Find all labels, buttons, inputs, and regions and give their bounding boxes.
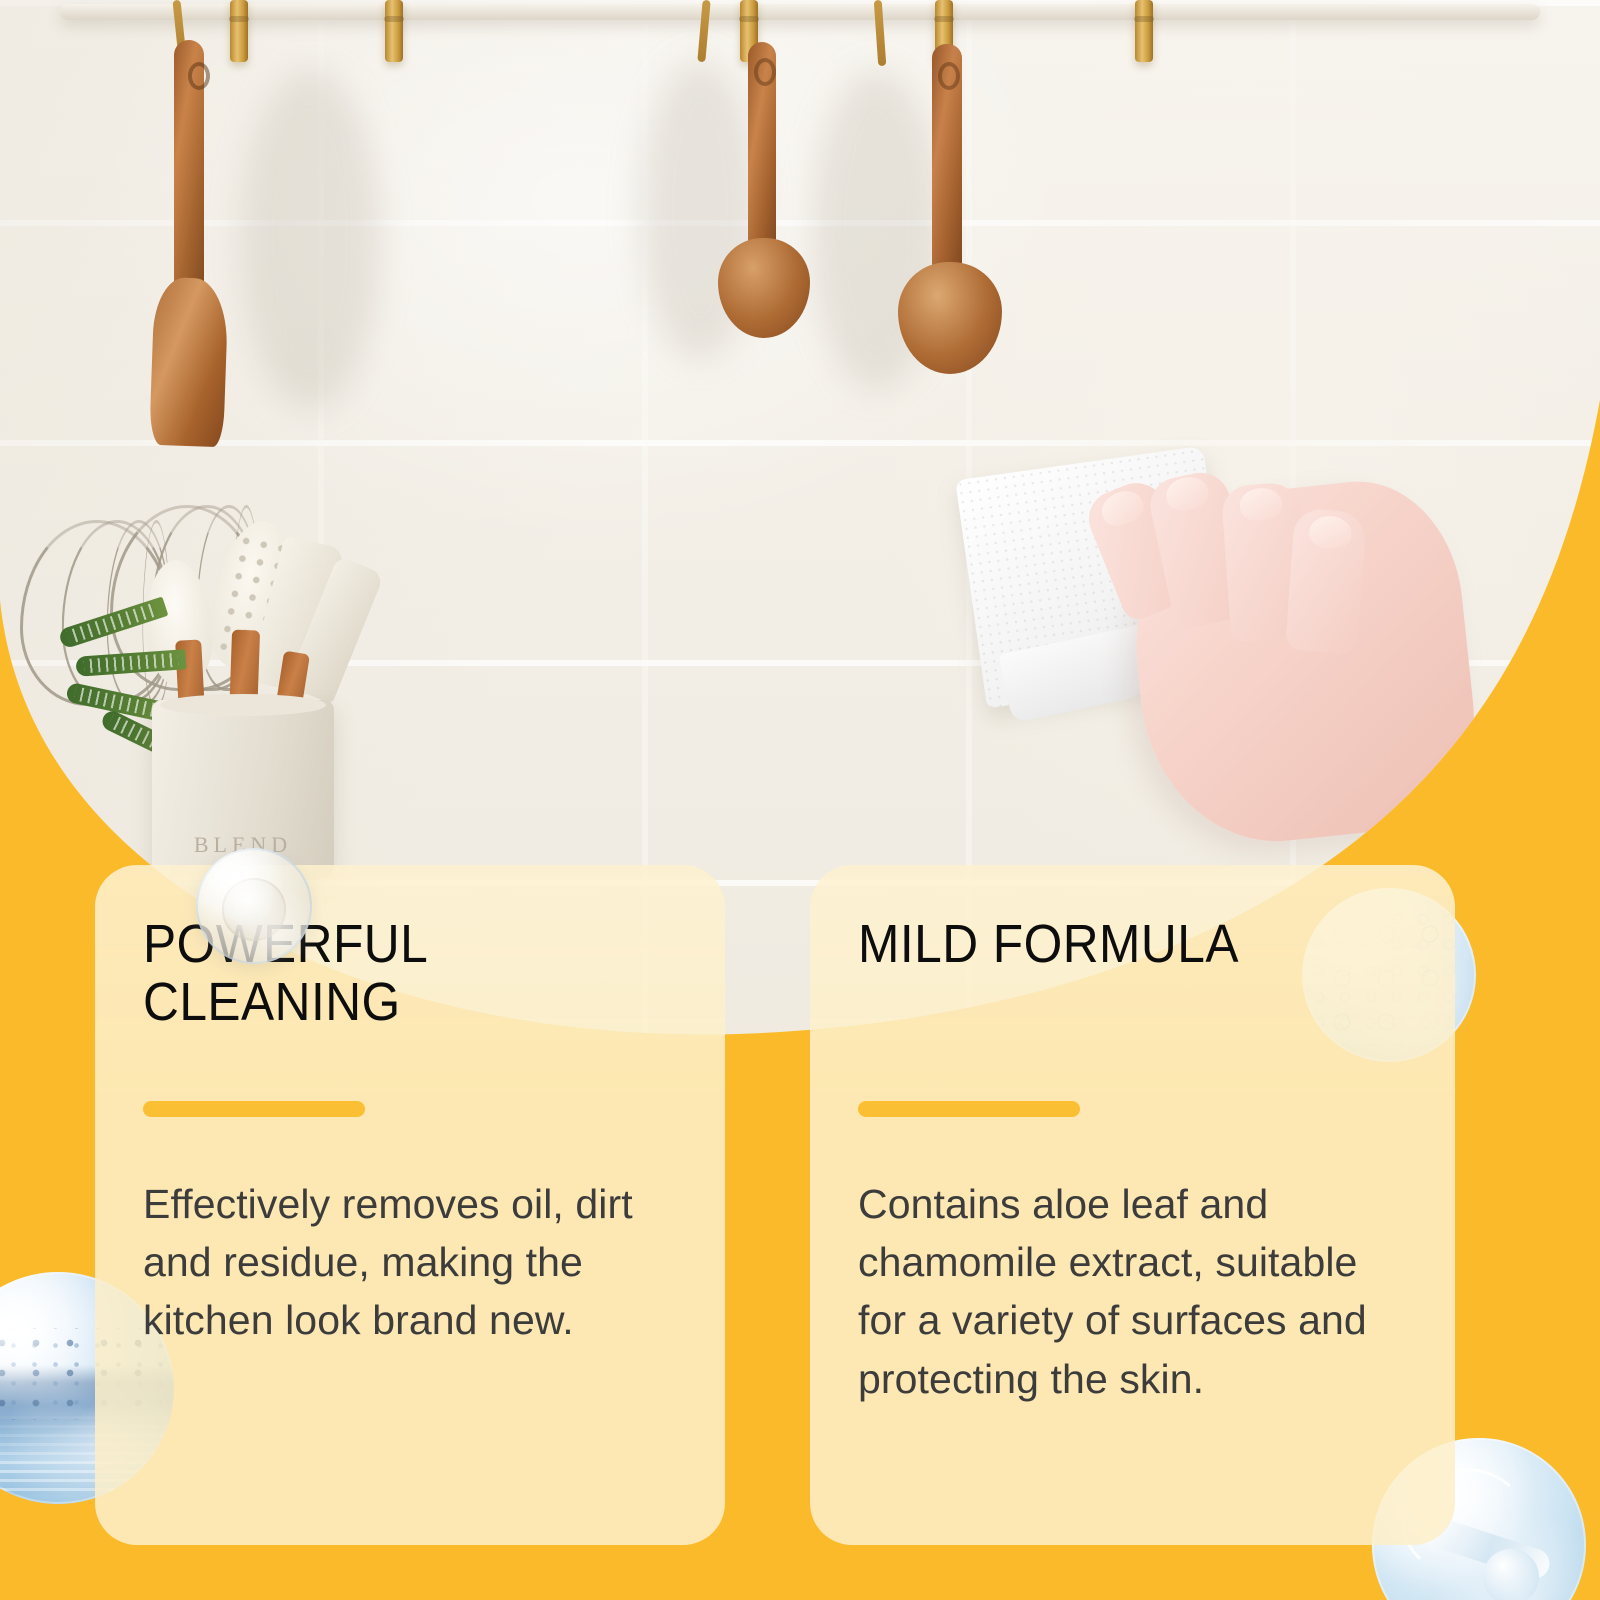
feature-card-mild-formula: MILD FORMULA Contains aloe leaf and cham… [810,865,1455,1545]
heading-accent-bar [143,1101,365,1117]
ladle-bowl [898,262,1002,374]
gold-hook-icon [230,0,248,62]
hanging-rail [60,4,1540,20]
fingernail [1163,473,1211,513]
gold-hook-icon [1135,0,1153,62]
frosted-bubble-icon [196,848,312,964]
ladle-hang-hole [938,62,960,90]
card-heading: MILD FORMULA [858,915,1380,973]
spatula-hang-hole [188,62,210,90]
bubble-gloss [196,848,312,964]
wooden-spatula [148,40,232,440]
heading-accent-bar [858,1101,1080,1117]
hand-with-wipe [960,440,1480,870]
card-body-text: Effectively removes oil, dirt and residu… [143,1175,681,1350]
fern-frond [58,596,169,649]
wooden-ladle [718,42,810,382]
spatula-blade [149,277,229,447]
finger [1285,508,1367,655]
ladle-bowl [718,238,810,338]
fingernail [1239,487,1283,522]
fingernail [1308,515,1352,550]
card-body-text: Contains aloe leaf and chamomile extract… [858,1175,1411,1408]
wooden-ladle [898,44,1002,414]
ladle-hang-hole [754,58,776,86]
utensil-shadow [240,70,380,410]
product-feature-poster: BLEND POWERFUL CLEANING Effective [0,0,1600,1600]
gold-hook-icon [385,0,403,62]
feature-card-powerful-cleaning: POWERFUL CLEANING Effectively removes oi… [95,865,725,1545]
fern-frond [75,649,186,677]
